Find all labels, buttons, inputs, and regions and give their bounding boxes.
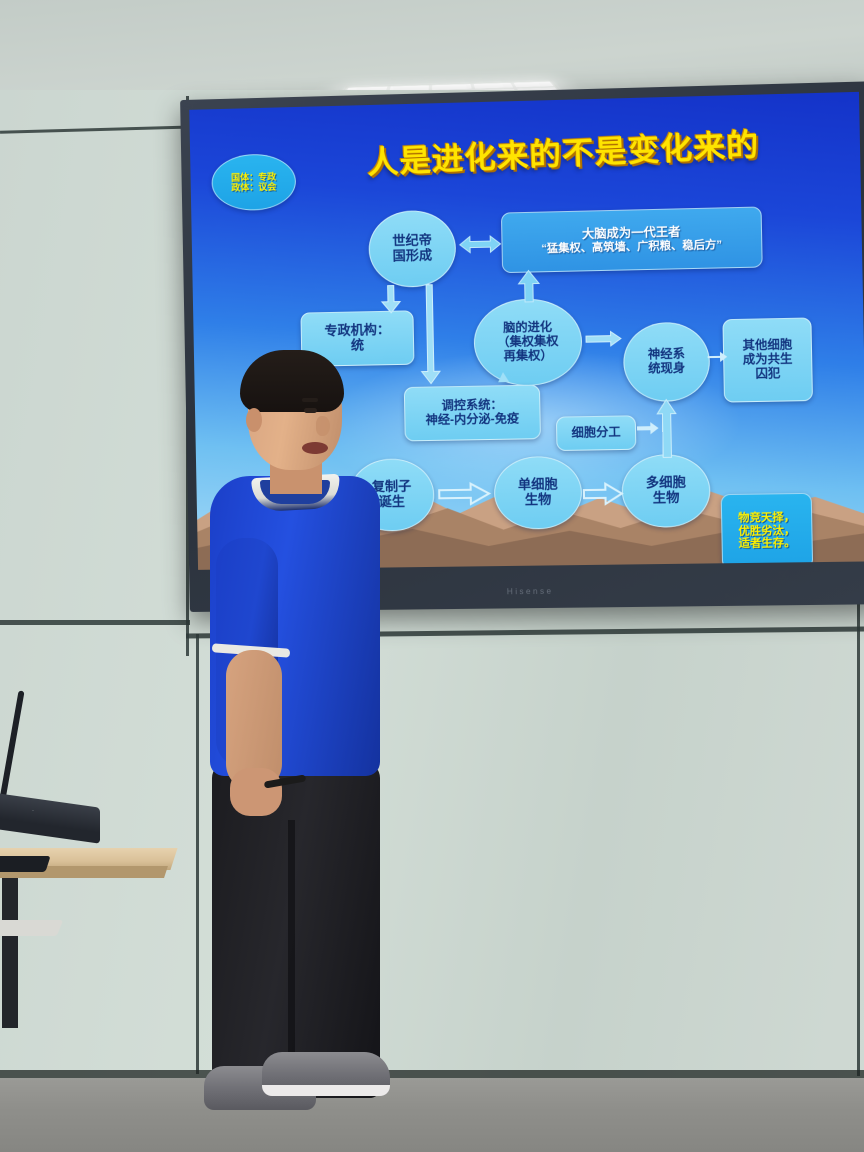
node-state-form-badge: 国体：专政 政体：议会 (211, 153, 296, 211)
node-unicellular-line-2: 生物 (525, 493, 552, 508)
arrow-empire-down (380, 285, 403, 314)
arrow-empire-to-brainking (458, 231, 503, 258)
lectern-foot (0, 920, 63, 936)
node-empire-line-2: 国形成 (392, 248, 432, 264)
arrow-replicator-to-unicellular (438, 481, 491, 506)
node-other-cells-symbiotic: 其他细胞 成为共生 囚犯 (722, 317, 813, 402)
node-unicellular-line-1: 单细胞 (518, 477, 558, 493)
arrow-nervous-to-othercells (708, 350, 729, 365)
node-selection-line-1: 物竞天择， (738, 511, 795, 525)
microphone-brand-label: · (32, 808, 35, 814)
display-brand-logo: Hisense (507, 587, 554, 597)
node-multicellular-line-2: 生物 (653, 491, 680, 507)
node-selection-line-2: 优胜劣汰， (738, 524, 795, 538)
node-natural-selection: 物竞天择， 优胜劣汰， 适者生存。 (721, 493, 814, 570)
wall-seam-horizontal-mid (0, 620, 190, 625)
node-empire-formation: 世纪帝 国形成 (368, 210, 457, 288)
shoe-sole (262, 1085, 390, 1096)
node-brain-king: 大脑成为一代王者 “猛集权、高筑墙、广积粮、稳后方” (501, 206, 763, 273)
node-cell-division-label: 细胞分工 (571, 426, 620, 441)
presenter-eyebrow (302, 398, 318, 402)
lectern-keyboard-tray (0, 856, 51, 872)
arrow-brainevo-to-brainking (517, 270, 542, 303)
node-multicellular-line-1: 多细胞 (646, 475, 686, 491)
classroom-scene: 人是进化来的不是变化来的 国体：专政 政体：议会 世纪帝 国形成 大脑成为一代王… (0, 0, 864, 1152)
node-regulation-line-2: 神经-内分泌-免疫 (426, 412, 520, 428)
arrow-regulation-up (497, 372, 512, 388)
arrow-unicellular-to-multicellular (583, 481, 624, 506)
presenter-ear (246, 408, 262, 432)
presenter-hand (230, 768, 282, 816)
node-brain-king-line-2: “猛集权、高筑墙、广积粮、稳后方” (541, 238, 722, 255)
presenter-hair (240, 350, 344, 412)
node-nervous-line-2: 统现身 (648, 362, 685, 377)
node-cell-division-of-labor: 细胞分工 (556, 415, 637, 451)
presenter-nose (316, 416, 330, 436)
presenter-eye (304, 408, 317, 413)
badge-line-2: 政体：议会 (231, 182, 276, 193)
node-selection-line-3: 适者生存。 (739, 537, 796, 551)
node-other-cells-line-3: 囚犯 (755, 367, 780, 381)
presenter-mouth (302, 442, 328, 454)
slide-title: 人是进化来的不是变化来的 (308, 116, 820, 185)
lectern-leg (2, 878, 18, 1028)
arrow-empire-to-regulation (420, 285, 444, 386)
arrow-nervous-to-brainevo (584, 329, 623, 350)
node-brain-evo-line-3: 再集权） (504, 349, 553, 364)
presenter-legs (212, 762, 380, 1098)
presenter (190, 350, 405, 1152)
floor (0, 1078, 864, 1152)
presenter-shoe-front (262, 1052, 390, 1096)
arrow-celldivision-to-multicellular (637, 420, 660, 437)
node-regulation-system: 调控系统： 神经-内分泌-免疫 (404, 385, 541, 442)
